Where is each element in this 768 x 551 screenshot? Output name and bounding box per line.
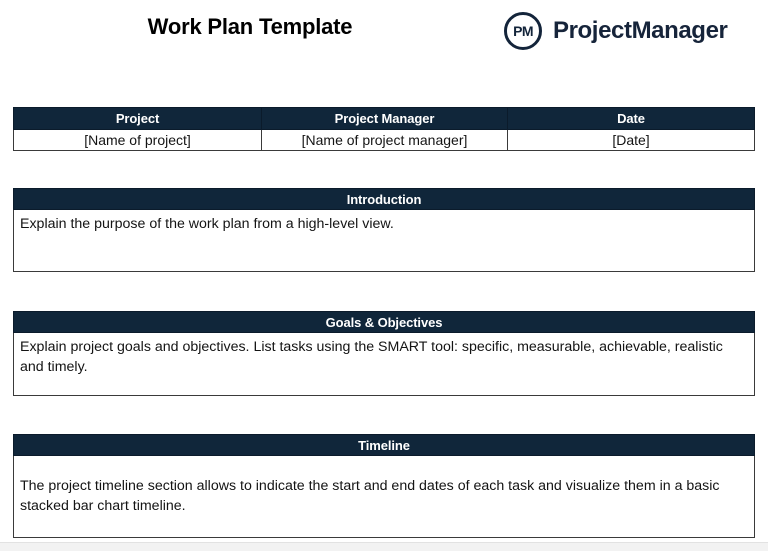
project-name-field[interactable]: [Name of project] xyxy=(13,130,262,151)
pm-monogram-text: PM xyxy=(513,24,533,38)
page-title: Work Plan Template xyxy=(110,14,390,40)
pm-circle-logo-icon: PM xyxy=(504,12,542,50)
date-field[interactable]: [Date] xyxy=(508,130,755,151)
column-header-project-manager: Project Manager xyxy=(262,107,508,130)
timeline-text: The project timeline section allows to i… xyxy=(20,476,748,516)
document-header: Work Plan Template PM ProjectManager xyxy=(0,0,768,92)
project-info-table: Project Project Manager Date [Name of pr… xyxy=(13,107,755,152)
introduction-text: Explain the purpose of the work plan fro… xyxy=(20,214,748,234)
page-footer-strip xyxy=(0,542,768,551)
section-body-goals-objectives[interactable]: Explain project goals and objectives. Li… xyxy=(13,333,755,396)
goals-objectives-text: Explain project goals and objectives. Li… xyxy=(20,337,748,377)
brand-logo: PM ProjectManager xyxy=(504,12,727,50)
table-header-row: Project Project Manager Date xyxy=(13,107,755,130)
section-heading-goals-objectives: Goals & Objectives xyxy=(13,311,755,333)
section-body-introduction[interactable]: Explain the purpose of the work plan fro… xyxy=(13,210,755,272)
project-manager-field[interactable]: [Name of project manager] xyxy=(262,130,508,151)
column-header-project: Project xyxy=(13,107,262,130)
section-heading-timeline: Timeline xyxy=(13,434,755,456)
column-header-date: Date xyxy=(508,107,755,130)
section-body-timeline[interactable]: The project timeline section allows to i… xyxy=(13,456,755,538)
table-row: [Name of project] [Name of project manag… xyxy=(13,130,755,151)
section-heading-introduction: Introduction xyxy=(13,188,755,210)
brand-name: ProjectManager xyxy=(553,17,727,45)
